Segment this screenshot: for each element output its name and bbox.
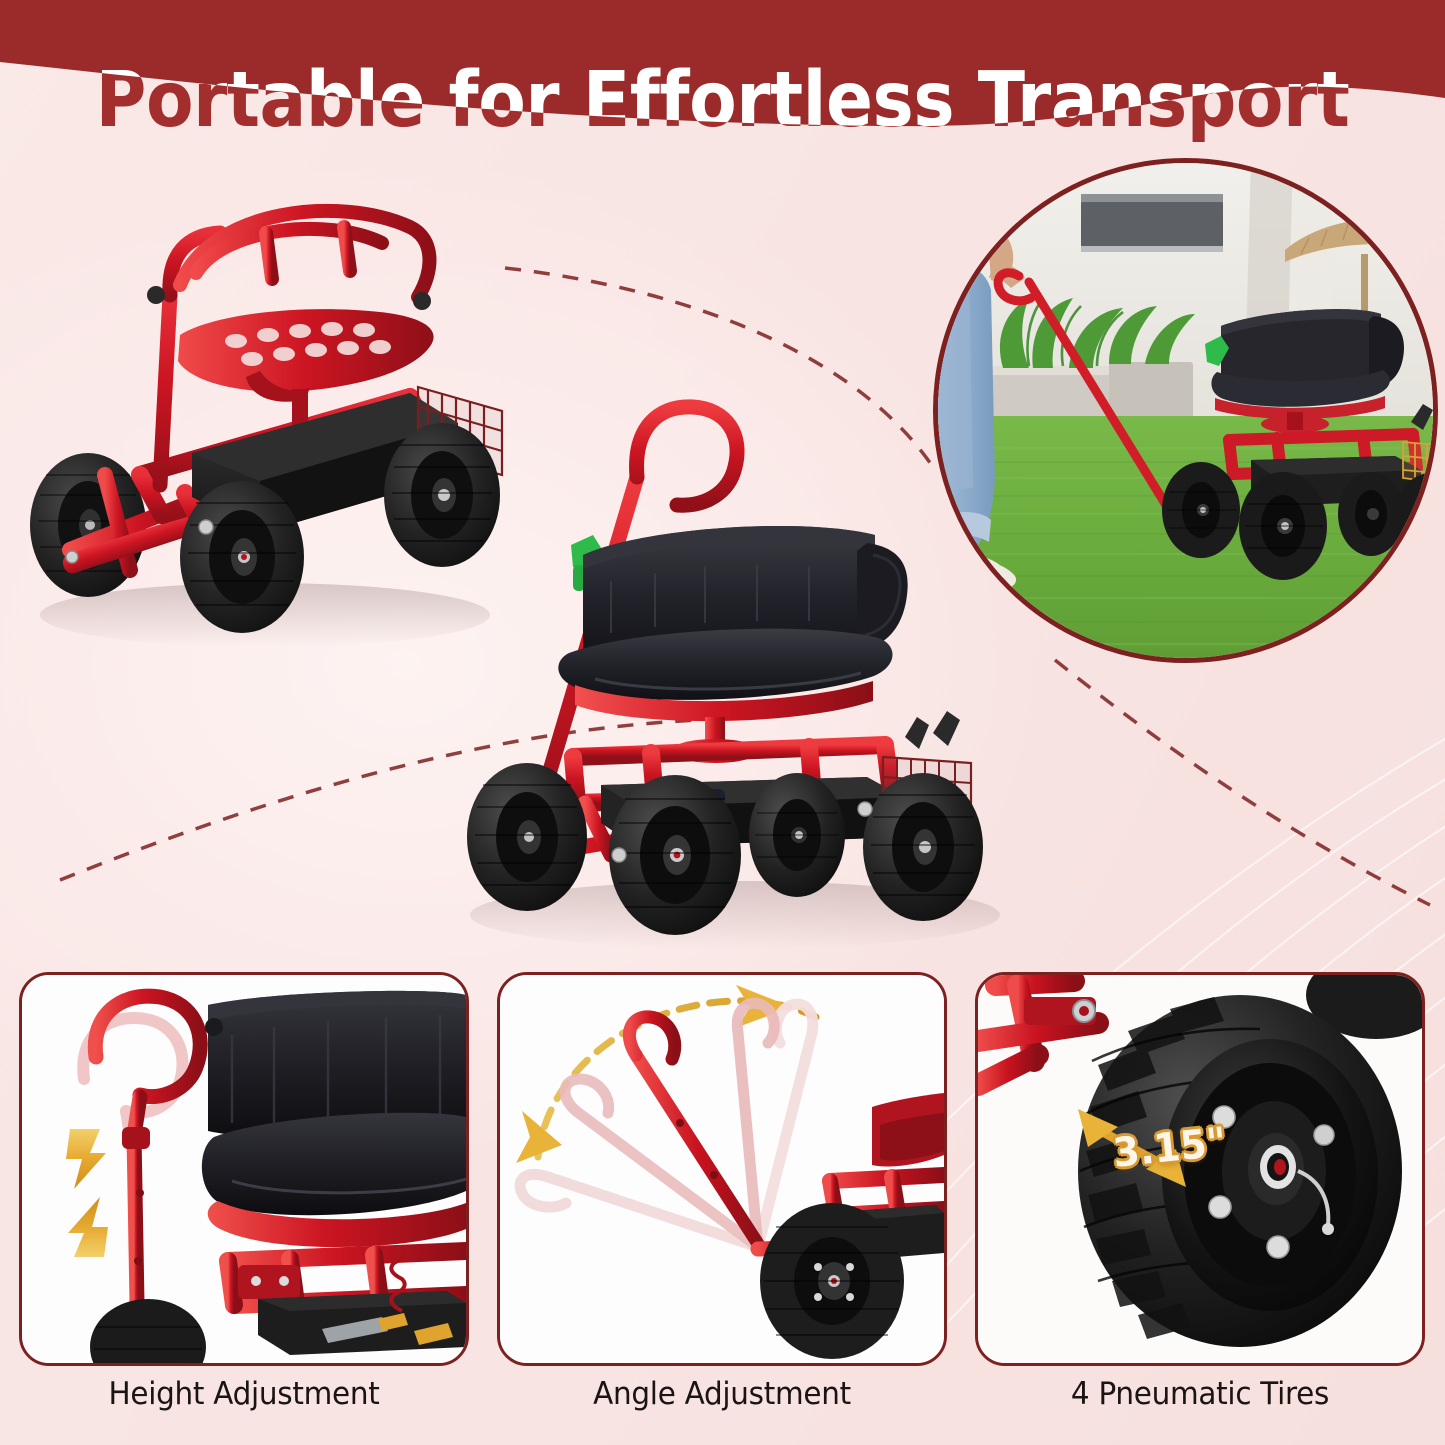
page-title-text-knockout: Portable for Effortless Transport	[96, 62, 1350, 139]
feature-panels: Height Adjustment Angle Adjustment 4 Pne…	[0, 972, 1445, 1445]
product-infographic: Portable for Effortless Transport Portab…	[0, 0, 1445, 1445]
caption-pneumatic-tires: 4 Pneumatic Tires	[986, 1376, 1414, 1412]
wheel	[180, 481, 304, 633]
panel-pneumatic-tires	[975, 972, 1425, 1366]
wheel	[609, 775, 741, 935]
page-title: Portable for Effortless Transport Portab…	[0, 46, 1445, 154]
wheel	[760, 1203, 904, 1359]
caption-angle-adjustment: Angle Adjustment	[508, 1376, 936, 1412]
caption-height-adjustment: Height Adjustment	[30, 1376, 458, 1412]
panel-angle-adjustment	[497, 972, 947, 1366]
wheel	[749, 773, 845, 897]
lifestyle-inset-photo	[933, 158, 1438, 663]
center-product-image	[405, 385, 1025, 965]
panel-height-adjustment	[19, 972, 469, 1366]
wheel	[467, 763, 587, 911]
wheel	[863, 773, 983, 921]
